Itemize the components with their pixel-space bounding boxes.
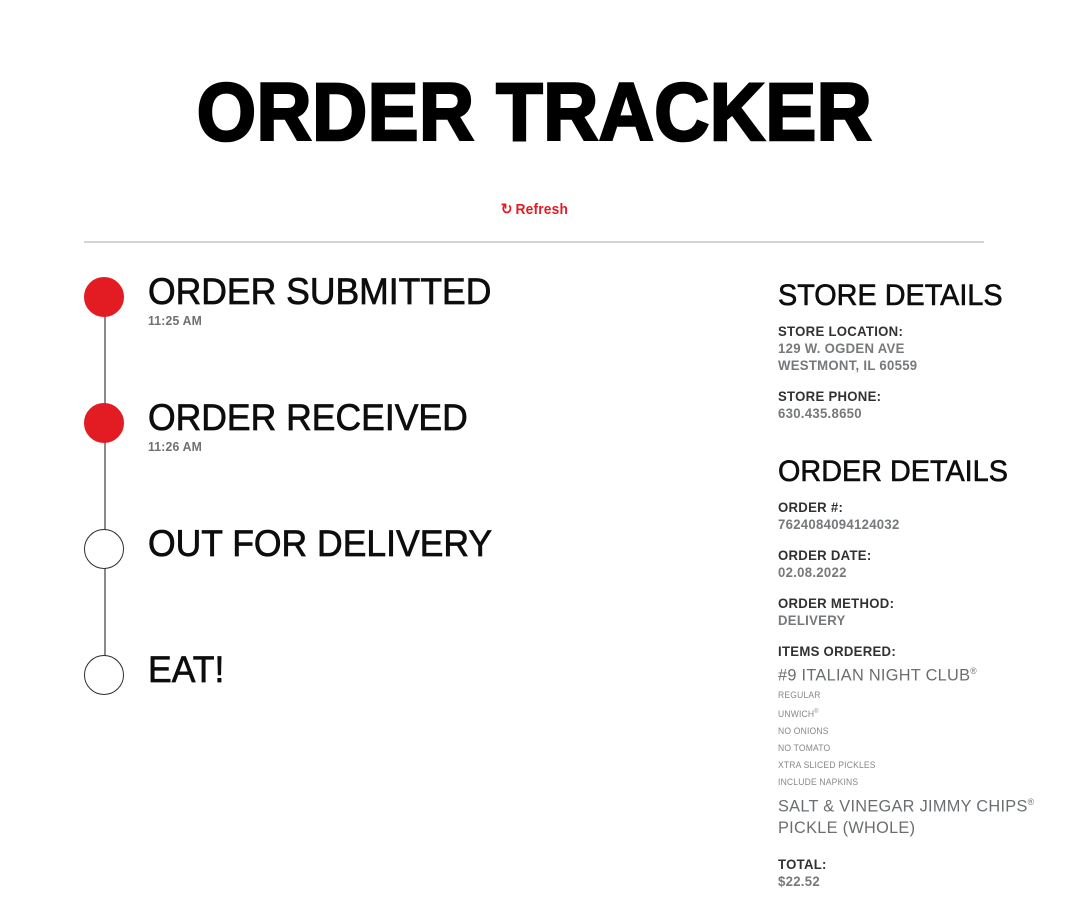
order-number-label: ORDER #:	[778, 499, 1022, 516]
order-total-field: TOTAL: $22.52	[778, 856, 1038, 890]
step-timestamp: 11:26 AM	[148, 439, 461, 455]
order-date-value: 02.08.2022	[778, 564, 1022, 581]
order-method-label: ORDER METHOD:	[778, 595, 1022, 612]
page-header: ORDER TRACKER ↻Refresh	[0, 0, 1069, 219]
order-date-field: ORDER DATE: 02.08.2022	[778, 547, 1038, 581]
trademark-icon: ®	[814, 709, 818, 715]
store-phone-field: STORE PHONE: 630.435.8650	[778, 388, 1038, 422]
timeline-step: EAT!	[84, 650, 684, 710]
step-label: ORDER RECEIVED	[148, 398, 468, 438]
order-method-value: DELIVERY	[778, 612, 1022, 629]
step-status-dot-done	[84, 277, 124, 317]
ordered-item-option: UNWICH®	[778, 704, 1025, 723]
store-location-field: STORE LOCATION: 129 W. OGDEN AVE WESTMON…	[778, 323, 1038, 374]
timeline-step: ORDER SUBMITTED 11:25 AM	[84, 272, 684, 398]
store-location-label: STORE LOCATION:	[778, 323, 1022, 340]
order-total-label: TOTAL:	[778, 856, 1022, 873]
step-label: OUT FOR DELIVERY	[148, 524, 492, 564]
items-ordered-list: #9 ITALIAN NIGHT CLUB®REGULARUNWICH®NO O…	[778, 660, 1038, 839]
details-sidebar: STORE DETAILS STORE LOCATION: 129 W. OGD…	[778, 280, 1038, 904]
step-body: OUT FOR DELIVERY	[148, 524, 506, 565]
store-phone-label: STORE PHONE:	[778, 388, 1022, 405]
step-status-dot-pending	[84, 655, 124, 695]
ordered-item-option: NO ONIONS	[778, 723, 1025, 740]
step-label: ORDER SUBMITTED	[148, 272, 491, 312]
step-label: EAT!	[148, 650, 224, 690]
order-total-value: $22.52	[778, 873, 1022, 890]
store-location-line1: 129 W. OGDEN AVE	[778, 340, 1022, 357]
ordered-item-option: XTRA SLICED PICKLES	[778, 757, 1025, 774]
step-timestamp: 11:25 AM	[148, 313, 484, 329]
order-status-timeline: ORDER SUBMITTED 11:25 AM ORDER RECEIVED …	[84, 272, 684, 710]
step-body: EAT!	[148, 650, 228, 691]
refresh-container: ↻Refresh	[0, 200, 1069, 219]
refresh-button[interactable]: ↻Refresh	[501, 200, 568, 218]
step-body: ORDER RECEIVED 11:26 AM	[148, 398, 481, 455]
order-date-label: ORDER DATE:	[778, 547, 1022, 564]
ordered-item-option: REGULAR	[778, 687, 1025, 704]
store-location-line2: WESTMONT, IL 60559	[778, 357, 1022, 374]
order-details-heading: ORDER DETAILS	[778, 456, 1028, 488]
trademark-icon: ®	[970, 666, 977, 676]
refresh-label: Refresh	[515, 201, 568, 218]
order-number-value: 7624084094124032	[778, 516, 1022, 533]
timeline-step: ORDER RECEIVED 11:26 AM	[84, 398, 684, 524]
ordered-item-option: INCLUDE NAPKINS	[778, 774, 1025, 791]
trademark-icon: ®	[1028, 797, 1035, 807]
step-status-dot-done	[84, 403, 124, 443]
items-ordered-label: ITEMS ORDERED:	[778, 643, 1022, 660]
refresh-icon: ↻	[501, 200, 513, 218]
timeline-step: OUT FOR DELIVERY	[84, 524, 684, 650]
step-body: ORDER SUBMITTED 11:25 AM	[148, 272, 506, 329]
ordered-item-name: SALT & VINEGAR JIMMY CHIPS®	[778, 791, 1028, 818]
ordered-item-name: #9 ITALIAN NIGHT CLUB®	[778, 660, 1028, 687]
order-tracker-page: ORDER TRACKER ↻Refresh ORDER SUBMITTED 1…	[0, 0, 1069, 872]
ordered-item-name: PICKLE (WHOLE)	[778, 817, 1028, 839]
store-details-heading: STORE DETAILS	[778, 280, 1028, 312]
header-divider	[84, 241, 984, 243]
store-phone-value[interactable]: 630.435.8650	[778, 405, 1022, 422]
order-number-field: ORDER #: 7624084094124032	[778, 499, 1038, 533]
items-ordered-field: ITEMS ORDERED: #9 ITALIAN NIGHT CLUB®REG…	[778, 643, 1038, 839]
step-status-dot-pending	[84, 529, 124, 569]
order-method-field: ORDER METHOD: DELIVERY	[778, 595, 1038, 629]
ordered-item-option: NO TOMATO	[778, 740, 1025, 757]
page-title: ORDER TRACKER	[37, 72, 1031, 154]
